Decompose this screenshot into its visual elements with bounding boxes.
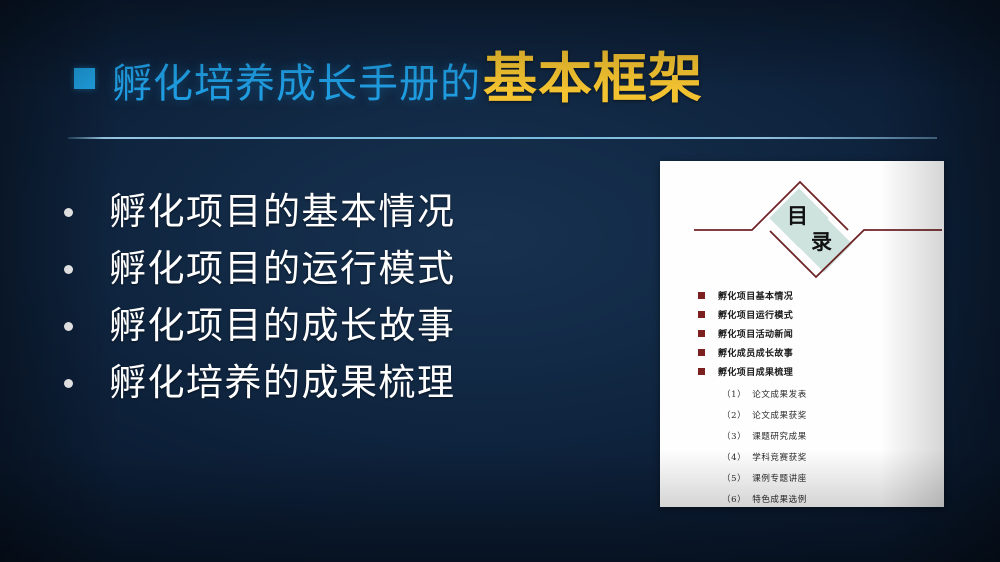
toc-heading-char-1: 目	[787, 205, 808, 226]
bullet-label: 孵化项目的成长故事	[109, 300, 456, 352]
red-square-bullet-icon	[698, 368, 705, 375]
toc-image-panel: 目 录 孵化项目基本情况 孵化项目运行模式 孵化项目活动新闻	[660, 161, 944, 507]
toc-list-item: 孵化项目运行模式	[698, 305, 793, 324]
red-square-bullet-icon	[698, 311, 705, 318]
red-square-bullet-icon	[698, 292, 705, 299]
bullet-list: 孵化项目的基本情况 孵化项目的运行模式 孵化项目的成长故事 孵化培养的成果梳理	[64, 186, 604, 414]
toc-item-label: 孵化项目运行模式	[718, 308, 793, 321]
toc-sub-label: 课例专题讲座	[752, 472, 807, 484]
slide-title-accent: 基本框架	[483, 52, 703, 106]
title-divider	[68, 137, 937, 139]
presentation-slide: 孵化培养成长手册的 基本框架 孵化项目的基本情况 孵化项目的运行模式 孵化项目的…	[0, 0, 1000, 562]
toc-sub-item: （5） 课例专题讲座	[722, 467, 807, 488]
toc-sub-item: （2） 论文成果获奖	[722, 404, 807, 425]
toc-item-label: 孵化项目活动新闻	[718, 327, 793, 340]
bullet-dot-icon	[64, 265, 73, 274]
toc-list-item: 孵化项目基本情况	[698, 286, 793, 305]
toc-list-item: 孵化成员成长故事	[698, 343, 793, 362]
list-item: 孵化培养的成果梳理	[64, 357, 604, 414]
toc-main-list: 孵化项目基本情况 孵化项目运行模式 孵化项目活动新闻 孵化成员成长故事 孵化项目…	[698, 286, 793, 381]
toc-sub-item: （1） 论文成果发表	[722, 383, 807, 404]
toc-list-item: 孵化项目成果梳理	[698, 362, 793, 381]
toc-sub-label: 学科竞赛获奖	[752, 451, 807, 463]
toc-item-label: 孵化项目成果梳理	[718, 365, 793, 378]
bullet-dot-icon	[64, 208, 73, 217]
toc-item-label: 孵化成员成长故事	[718, 346, 793, 359]
toc-sub-label: 特色成果选例	[752, 493, 807, 505]
square-bullet-icon	[74, 68, 95, 89]
bullet-dot-icon	[64, 379, 73, 388]
toc-sub-list: （1） 论文成果发表 （2） 论文成果获奖 （3） 课题研究成果 （4） 学科竞…	[722, 383, 807, 507]
list-item: 孵化项目的基本情况	[64, 186, 604, 243]
toc-heading-char-2: 录	[811, 231, 832, 252]
toc-sub-number: （6）	[722, 493, 746, 505]
toc-sub-label: 论文成果获奖	[752, 409, 807, 421]
toc-sub-item: （6） 特色成果选例	[722, 488, 807, 507]
toc-sub-number: （2）	[722, 409, 746, 421]
toc-sub-number: （5）	[722, 472, 746, 484]
toc-heading-graphic: 目 录	[660, 161, 944, 291]
bullet-label: 孵化项目的运行模式	[109, 243, 456, 295]
toc-item-label: 孵化项目基本情况	[718, 289, 793, 302]
toc-sub-label: 课题研究成果	[752, 430, 807, 442]
red-square-bullet-icon	[698, 330, 705, 337]
toc-sub-number: （1）	[722, 388, 746, 400]
bullet-dot-icon	[64, 322, 73, 331]
toc-sub-item: （3） 课题研究成果	[722, 425, 807, 446]
toc-page: 目 录 孵化项目基本情况 孵化项目运行模式 孵化项目活动新闻	[660, 161, 944, 507]
list-item: 孵化项目的成长故事	[64, 300, 604, 357]
list-item: 孵化项目的运行模式	[64, 243, 604, 300]
slide-title: 孵化培养成长手册的 基本框架	[74, 52, 703, 106]
toc-sub-number: （4）	[722, 451, 746, 463]
toc-sub-item: （4） 学科竞赛获奖	[722, 446, 807, 467]
toc-list-item: 孵化项目活动新闻	[698, 324, 793, 343]
toc-sub-label: 论文成果发表	[752, 388, 807, 400]
toc-sub-number: （3）	[722, 430, 746, 442]
slide-title-primary: 孵化培养成长手册的	[112, 64, 481, 104]
red-square-bullet-icon	[698, 349, 705, 356]
bullet-label: 孵化培养的成果梳理	[109, 357, 456, 409]
bullet-label: 孵化项目的基本情况	[109, 186, 456, 238]
